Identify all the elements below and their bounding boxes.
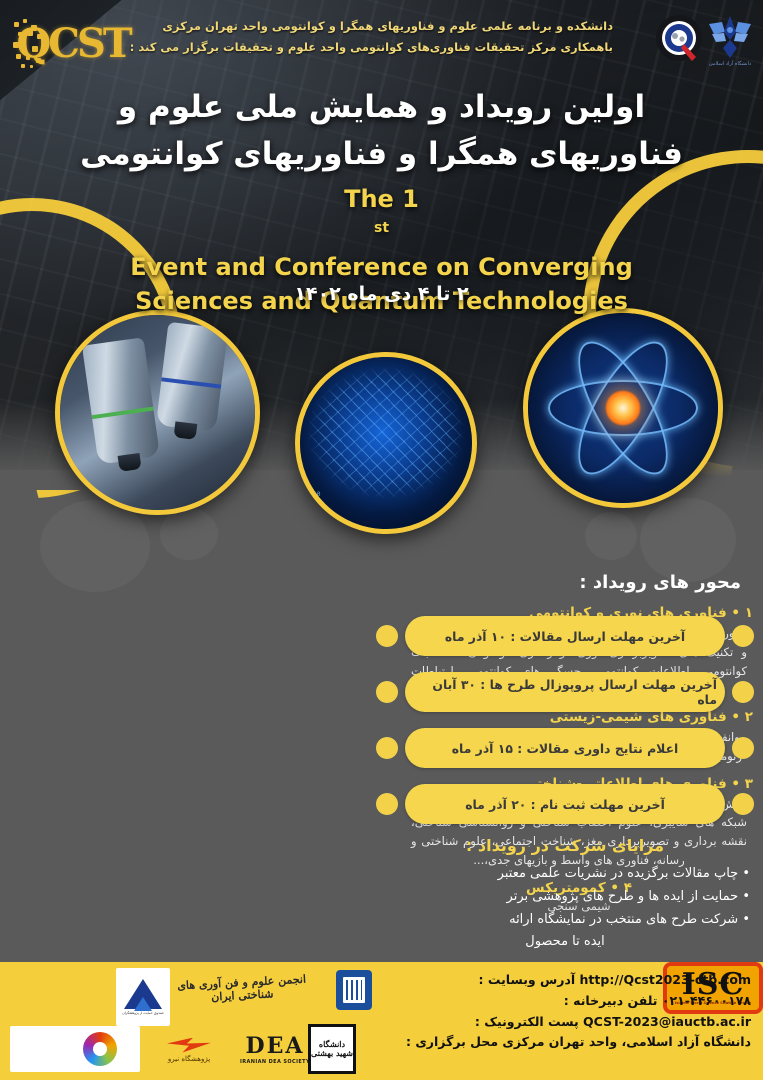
secondary-logo-caption [33, 1045, 35, 1053]
niroo-caption: پژوهشگاه نیرو [168, 1055, 210, 1063]
website-row: http://Qcst2023-ctb.com آدرس وبسایت : [351, 970, 751, 991]
brain-circuit-photo [300, 357, 472, 529]
benefit-item: • حمایت از ایده ها و طرح های پژوهشی برتر [376, 886, 754, 909]
research-fund-logo: صندوق حمایت از پژوهشگران [116, 968, 170, 1026]
benefits-heading: مزایای شرکت در رویداد : [376, 836, 754, 855]
benefits-section: مزایای شرکت در رویداد : • چاپ مقالات برگ… [376, 836, 754, 954]
event-date: ۲ تا ۴ دی ماه ۱۴۰۲ [0, 283, 763, 305]
conference-poster: QCST دانشکده و برنامه علمی علوم و فناوری… [0, 0, 763, 1080]
deadline-row: آخرین مهلت ثبت نام : ۲۰ آذر ماه [376, 782, 754, 826]
bg-blob [640, 498, 736, 582]
persian-title: اولین رویداد و همایش ملی علوم و فناوریها… [0, 84, 763, 178]
bullet-dot-icon [732, 625, 754, 647]
contact-info: http://Qcst2023-ctb.com آدرس وبسایت : ۰۲… [351, 970, 751, 1053]
benefit-continuation: ایده تا محصول [376, 931, 754, 954]
dea-society-logo: DEA IRANIAN DEA SOCIETY [232, 1030, 318, 1070]
shahid-beheshti-logo: دانشگاه شهید بهشتی [308, 1024, 356, 1074]
top-bar: QCST دانشکده و برنامه علمی علوم و فناوری… [0, 0, 763, 86]
english-title-line-1: The 1st Event and Conference on Convergi… [0, 182, 763, 284]
atom-photo [528, 313, 718, 503]
deadline-row: اعلام نتایج داوری مقالات : ۱۵ آذر ماه [376, 726, 754, 770]
digital-brain-image: 0110010010011001 [295, 352, 477, 534]
objective-lens-icon [82, 337, 160, 464]
bullet-dot-icon [376, 793, 398, 815]
website-label: آدرس وبسایت : [479, 972, 576, 987]
atom-nucleus [605, 390, 641, 426]
deadline-pill: آخرین مهلت ثبت نام : ۲۰ آذر ماه [405, 784, 725, 824]
footer-bar: ISC Islamic World Science Citation Cente… [0, 962, 763, 1080]
binary-overlay: 0110010010011001 [306, 491, 320, 521]
english-title-prefix: The 1 [0, 182, 763, 216]
bullet-dot-icon [376, 737, 398, 759]
lens-ring [161, 377, 221, 388]
english-title-rest: Event and Conference on Converging [0, 250, 763, 284]
deadline-row: آخرین مهلت ارسال مقالات : ۱۰ آذر ماه [376, 614, 754, 658]
lens-ring [92, 407, 154, 420]
bullet-dot-icon [376, 681, 398, 703]
deadline-row: آخرین مهلت ارسال پروپوزال طرح ها : ۳۰ آب… [376, 670, 754, 714]
bg-blob [585, 512, 637, 560]
deadlines-section: آخرین مهلت ارسال مقالات : ۱۰ آذر ماه آخر… [376, 614, 754, 838]
bullet-dot-icon [732, 737, 754, 759]
iau-logo-caption: دانشگاه آزاد اسلامی [709, 61, 751, 67]
microscope-image [55, 310, 260, 515]
header-organizer-text: دانشکده و برنامه علمی علوم و فناوریهای ه… [113, 16, 613, 59]
lightning-bolt-icon [167, 1038, 211, 1053]
phone-row: ۰۲۱-۴۴۶۰۰۱۷۸ تلفن دبیرخانه : [351, 991, 751, 1012]
bullet-dot-icon [732, 793, 754, 815]
atom-image [523, 308, 723, 508]
quantum-research-logo-icon [655, 14, 705, 64]
shahid-logo-text: دانشگاه شهید بهشتی [311, 1040, 353, 1058]
email-value[interactable]: QCST-2023@iauctb.ac.ir [583, 1012, 751, 1033]
cognitive-association-text: انجمن علوم و فن آوری های شناختی ایران [175, 973, 308, 1006]
deadline-pill: آخرین مهلت ارسال مقالات : ۱۰ آذر ماه [405, 616, 725, 656]
dea-logo-text: DEA [246, 1035, 305, 1057]
triangle-mark-icon [124, 979, 162, 1009]
venue-value: دانشگاه آزاد اسلامی، واحد تهران مرکزی [502, 1034, 751, 1049]
venue-row: دانشگاه آزاد اسلامی، واحد تهران مرکزی مح… [351, 1032, 751, 1053]
research-fund-caption: صندوق حمایت از پژوهشگران [122, 1011, 164, 1015]
lens-tip [174, 421, 197, 440]
email-row: QCST-2023@iauctb.ac.ir پست الکترونیک : [351, 1012, 751, 1033]
header-line-1: دانشکده و برنامه علمی علوم و فناوریهای ه… [113, 16, 613, 37]
bg-blob [160, 508, 218, 560]
iau-wings-icon [706, 10, 754, 60]
niroo-research-logo: پژوهشگاه نیرو [150, 1028, 228, 1072]
iau-logo: دانشگاه آزاد اسلامی [706, 10, 754, 72]
email-label: پست الکترونیک : [475, 1014, 579, 1029]
deadline-pill: اعلام نتایج داوری مقالات : ۱۵ آذر ماه [405, 728, 725, 768]
phone-label: تلفن دبیرخانه : [564, 993, 658, 1008]
pixel-dots-icon [12, 18, 60, 70]
header-line-2: باهمکاری مرکز تحقیقات فناوری‌های کوانتوم… [113, 37, 613, 58]
objective-lens-icon [156, 322, 228, 433]
deadline-pill: آخرین مهلت ارسال پروپوزال طرح ها : ۳۰ آب… [405, 672, 725, 712]
bullet-dot-icon [732, 681, 754, 703]
venue-label: محل برگزاری : [406, 1034, 498, 1049]
dea-logo-subtitle: IRANIAN DEA SOCIETY [240, 1059, 310, 1065]
persian-title-line-2: فناوریهای همگرا و فناوریهای کوانتومی [0, 131, 763, 178]
topics-heading: محور های رویداد : [405, 572, 753, 593]
phone-value: ۰۲۱-۴۴۶۰۰۱۷۸ [662, 993, 751, 1008]
bullet-dot-icon [376, 625, 398, 647]
persian-title-line-1: اولین رویداد و همایش ملی علوم و [0, 84, 763, 131]
benefit-item: • شرکت طرح های منتخب در نمایشگاه ارائه [376, 909, 754, 932]
website-value[interactable]: http://Qcst2023-ctb.com [580, 970, 751, 991]
color-ring-icon [83, 1032, 117, 1066]
ordinal-suffix: st [374, 220, 389, 236]
microscope-photo [60, 315, 255, 510]
benefit-item: • چاپ مقالات برگزیده در نشریات علمی معتب… [376, 863, 754, 886]
bg-blob [40, 500, 150, 592]
secondary-logo-pair [10, 1026, 140, 1072]
lens-tip [117, 453, 141, 472]
